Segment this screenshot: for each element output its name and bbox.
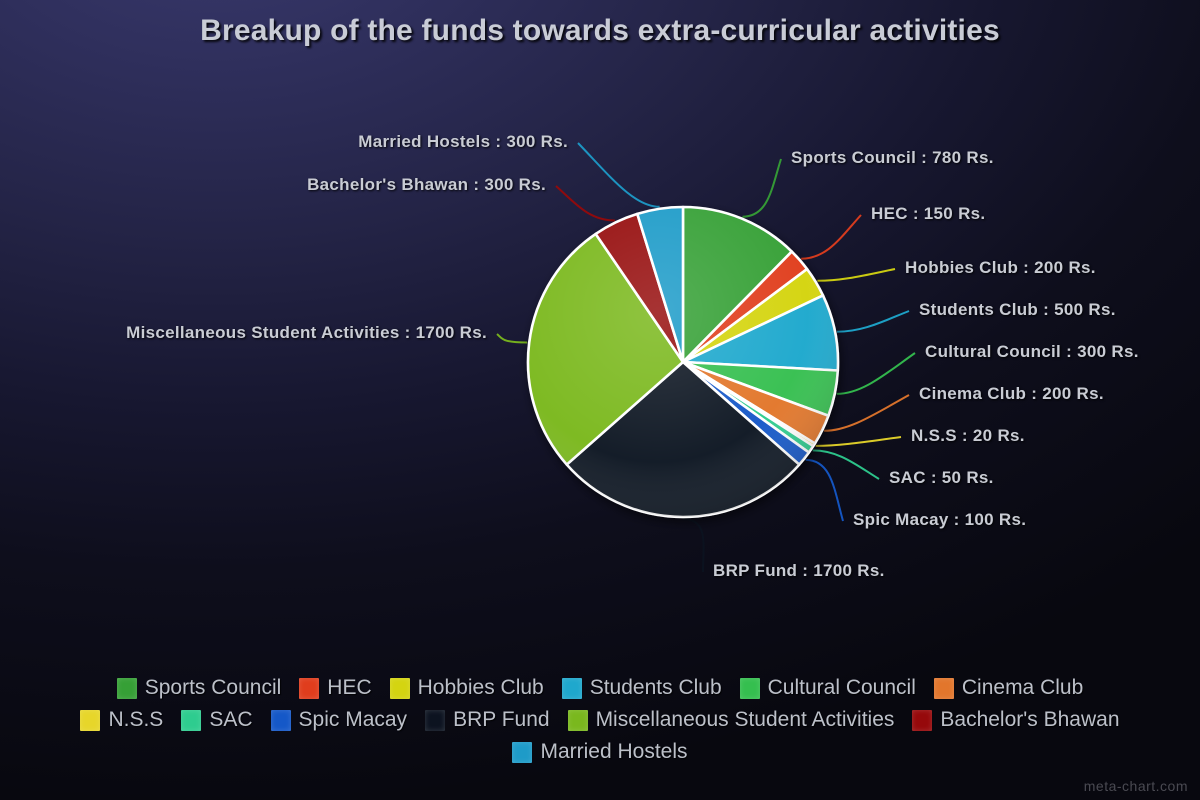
legend-item[interactable]: Students Club <box>562 674 722 702</box>
legend-label: SAC <box>209 708 252 732</box>
legend-label: Cinema Club <box>962 676 1083 700</box>
legend-label: N.S.S <box>108 708 163 732</box>
legend-swatch <box>562 678 582 699</box>
leader-line <box>497 334 527 343</box>
leader-line <box>556 186 615 221</box>
leader-line <box>837 311 909 332</box>
leader-line <box>743 159 782 217</box>
leader-line <box>801 215 861 259</box>
slice-label: Miscellaneous Student Activities : 1700 … <box>126 323 487 343</box>
legend-swatch <box>181 710 201 731</box>
chart-canvas: Breakup of the funds towards extra-curri… <box>0 0 1200 800</box>
legend-label: Students Club <box>590 676 722 700</box>
leader-line <box>817 269 895 281</box>
legend-swatch <box>299 678 319 699</box>
legend-swatch <box>390 678 410 699</box>
legend-label: Hobbies Club <box>418 676 544 700</box>
leader-line <box>816 437 901 446</box>
legend-item[interactable]: Cultural Council <box>740 674 916 702</box>
slice-label: BRP Fund : 1700 Rs. <box>713 561 885 581</box>
chart-legend: Sports CouncilHECHobbies ClubStudents Cl… <box>70 674 1130 766</box>
leader-line <box>813 450 879 479</box>
leader-line <box>578 143 660 207</box>
legend-item[interactable]: Cinema Club <box>934 674 1083 702</box>
pie-slices <box>528 207 838 517</box>
legend-item[interactable]: BRP Fund <box>425 706 550 734</box>
legend-item[interactable]: Married Hostels <box>512 738 687 766</box>
leader-line <box>806 460 843 521</box>
legend-label: Cultural Council <box>768 676 916 700</box>
slice-label: Spic Macay : 100 Rs. <box>853 510 1026 530</box>
slice-label: Sports Council : 780 Rs. <box>791 148 994 168</box>
legend-swatch <box>271 710 291 731</box>
watermark: meta-chart.com <box>1084 778 1188 794</box>
slice-label: Cultural Council : 300 Rs. <box>925 342 1139 362</box>
legend-label: Miscellaneous Student Activities <box>596 708 895 732</box>
legend-label: Sports Council <box>145 676 282 700</box>
legend-label: Spic Macay <box>299 708 408 732</box>
leader-line <box>824 395 909 431</box>
slice-label: HEC : 150 Rs. <box>871 204 985 224</box>
slice-label: Married Hostels : 300 Rs. <box>358 132 568 152</box>
legend-item[interactable]: Hobbies Club <box>390 674 544 702</box>
legend-swatch <box>80 710 100 731</box>
legend-swatch <box>512 742 532 763</box>
legend-swatch <box>934 678 954 699</box>
slice-label: Bachelor's Bhawan : 300 Rs. <box>307 175 546 195</box>
legend-item[interactable]: SAC <box>181 706 252 734</box>
legend-item[interactable]: Bachelor's Bhawan <box>912 706 1119 734</box>
slice-label: Students Club : 500 Rs. <box>919 300 1116 320</box>
legend-label: BRP Fund <box>453 708 550 732</box>
leader-line <box>837 353 915 394</box>
slice-label: SAC : 50 Rs. <box>889 468 994 488</box>
legend-swatch <box>740 678 760 699</box>
legend-item[interactable]: N.S.S <box>80 706 163 734</box>
legend-item[interactable]: Sports Council <box>117 674 282 702</box>
legend-label: HEC <box>327 676 371 700</box>
legend-item[interactable]: HEC <box>299 674 371 702</box>
slice-label: Hobbies Club : 200 Rs. <box>905 258 1096 278</box>
leader-line <box>683 519 704 572</box>
legend-label: Married Hostels <box>540 740 687 764</box>
legend-item[interactable]: Miscellaneous Student Activities <box>568 706 895 734</box>
legend-swatch <box>117 678 137 699</box>
legend-swatch <box>912 710 932 731</box>
slice-label: Cinema Club : 200 Rs. <box>919 384 1104 404</box>
legend-swatch <box>568 710 588 731</box>
legend-item[interactable]: Spic Macay <box>271 706 408 734</box>
slice-label: N.S.S : 20 Rs. <box>911 426 1025 446</box>
legend-swatch <box>425 710 445 731</box>
legend-label: Bachelor's Bhawan <box>940 708 1119 732</box>
